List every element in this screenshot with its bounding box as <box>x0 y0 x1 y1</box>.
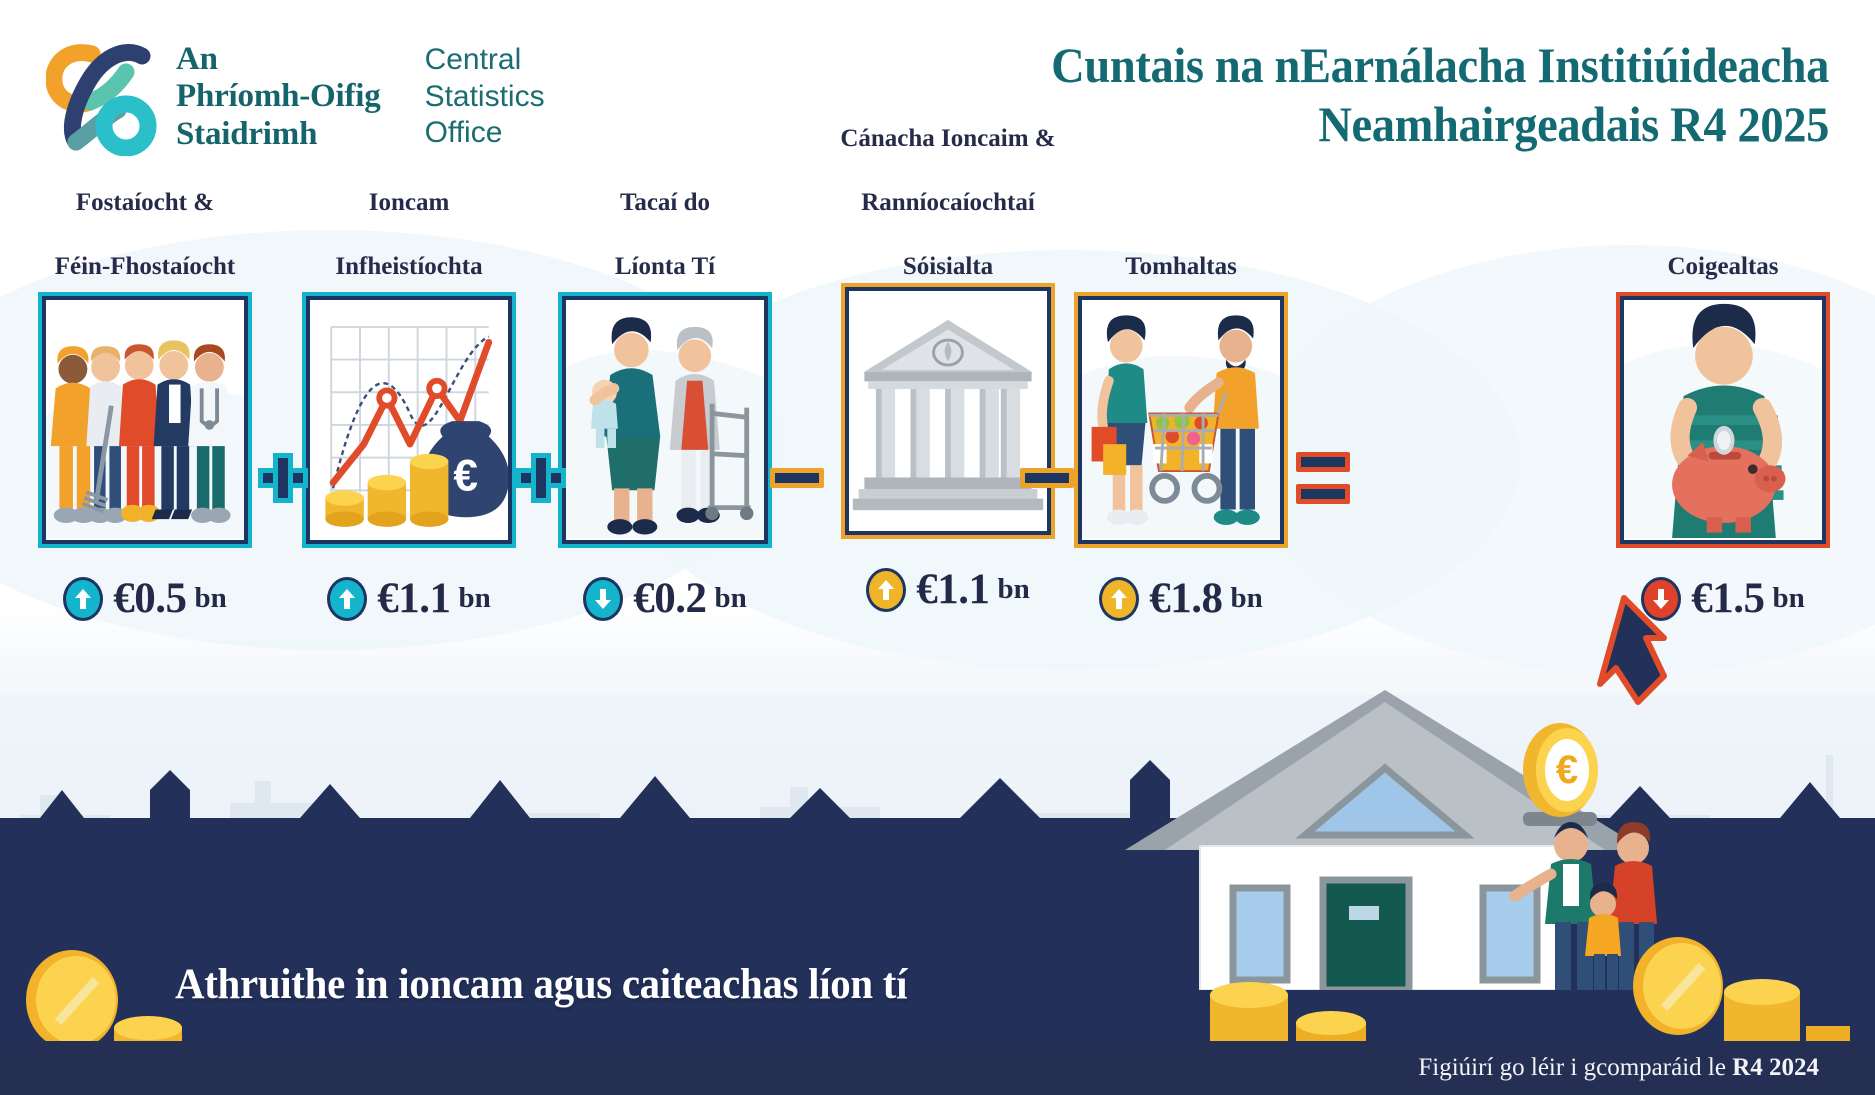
logo-ga-line-2: Phríomh-Oifig <box>176 78 381 115</box>
shopping-trolley-couple-illustration <box>1082 300 1280 538</box>
big-down-arrow-icon <box>1560 590 1690 720</box>
flow-item-label: Tacaí do Líonta Tí <box>556 195 774 283</box>
label-line-1: Cánacha Ioncaim & <box>820 123 1076 155</box>
flow-item-value: €1.1 bn <box>820 565 1076 614</box>
arrow-up-icon <box>1099 577 1139 621</box>
banner-headline: Athruithe in ioncam agus caiteachas líon… <box>175 960 907 1009</box>
label-line-1: Tomhaltas <box>1072 251 1290 283</box>
equals-top-bar <box>1296 452 1350 472</box>
minus-bar <box>1020 468 1074 488</box>
logo-en-line-1: Central <box>425 42 545 79</box>
value-amount: €1.1 <box>916 565 989 614</box>
workers-group-illustration <box>46 300 244 538</box>
logo-name-irish: An Phríomh-Oifig Staidrimh <box>176 41 381 153</box>
logo-ga-line-3: Staidrimh <box>176 116 381 153</box>
flow-item-value: €0.2 bn <box>556 574 774 623</box>
family-carer-illustration <box>566 300 764 538</box>
label-line-2: Infheistíochta <box>300 251 518 283</box>
flow-item-image-panel <box>845 287 1051 535</box>
footer-note-period: R4 2024 <box>1732 1054 1819 1081</box>
footer-note: Figiúirí go léir i gcomparáid le R4 2024 <box>1418 1054 1819 1082</box>
svg-text:€: € <box>453 451 478 500</box>
flow-item-label: Cánacha Ioncaim & Ranníocaíochtaí Sóisia… <box>820 195 1076 283</box>
flow-item-savings: Coigealtas <box>1614 195 1832 623</box>
value-amount: €0.2 <box>633 574 706 623</box>
flow-item-employment: Fostaíocht & Féin-Fhostaíocht <box>36 195 254 623</box>
value-unit: bn <box>1772 582 1804 615</box>
flow-item-investment-income: Ioncam Infheistíochta <box>300 195 518 623</box>
piggy-bank-saver-illustration <box>1624 300 1822 538</box>
logo-ga-line-1: An <box>176 41 381 78</box>
flow-item-value: €1.8 bn <box>1072 574 1290 623</box>
value-amount: €1.5 <box>1691 574 1764 623</box>
footer-note-plain: Figiúirí go léir i gcomparáid le <box>1418 1054 1732 1081</box>
flow-item-label: Fostaíocht & Féin-Fhostaíocht <box>36 195 254 283</box>
equals-bottom-bar <box>1296 484 1350 504</box>
label-line-2: Ranníocaíochtaí <box>820 187 1076 219</box>
flow-item-taxes-social-contributions: Cánacha Ioncaim & Ranníocaíochtaí Sóisia… <box>820 195 1076 614</box>
arrow-down-icon <box>583 577 623 621</box>
flow-item-image-panel <box>1078 296 1284 544</box>
operator-minus <box>1020 468 1074 488</box>
arrow-up-icon <box>866 568 906 612</box>
label-line-2: Líonta Tí <box>556 251 774 283</box>
cso-swirl-logo-icon <box>46 38 158 156</box>
operator-equals <box>1296 452 1350 504</box>
flow-item-image-panel <box>562 296 768 544</box>
flow-item-value: €1.1 bn <box>300 574 518 623</box>
flow-item-household-supports: Tacaí do Líonta Tí <box>556 195 774 623</box>
cso-logo: An Phríomh-Oifig Staidrimh Central Stati… <box>46 38 545 156</box>
arrow-up-icon <box>327 577 367 621</box>
label-line-1: Tacaí do <box>556 187 774 219</box>
label-line-1: Ioncam <box>300 187 518 219</box>
value-unit: bn <box>458 582 490 615</box>
operator-plus <box>516 453 566 503</box>
minus-bar <box>770 468 824 488</box>
label-line-3: Sóisialta <box>820 251 1076 283</box>
footer-bar: Figiúirí go léir i gcomparáid le R4 2024 <box>0 1041 1875 1095</box>
value-amount: €1.8 <box>1149 574 1222 623</box>
flow-item-image-panel <box>1620 296 1826 544</box>
value-unit: bn <box>997 573 1029 606</box>
label-line-1: Fostaíocht & <box>36 187 254 219</box>
label-line-1: Coigealtas <box>1614 251 1832 283</box>
operator-plus <box>258 453 308 503</box>
flow-item-label: Coigealtas <box>1614 195 1832 283</box>
flow-item-label: Tomhaltas <box>1072 195 1290 283</box>
arrow-up-icon <box>63 577 103 621</box>
flow-item-label: Ioncam Infheistíochta <box>300 195 518 283</box>
svg-text:€: € <box>1556 748 1578 792</box>
plus-vertical-bar <box>531 453 551 503</box>
value-amount: €0.5 <box>113 574 186 623</box>
flow-item-image-panel <box>42 296 248 544</box>
flow-item-value: €0.5 bn <box>36 574 254 623</box>
value-unit: bn <box>1230 582 1262 615</box>
logo-name-english: Central Statistics Office <box>425 42 545 152</box>
value-amount: €1.1 <box>377 574 450 623</box>
investment-chart-coins-illustration: € <box>310 300 508 538</box>
plus-vertical-bar <box>273 453 293 503</box>
infographic-canvas: An Phríomh-Oifig Staidrimh Central Stati… <box>0 0 1875 1095</box>
flow-item-image-panel: € <box>306 296 512 544</box>
label-line-2: Féin-Fhostaíocht <box>36 251 254 283</box>
flow-item-consumption: Tomhaltas <box>1072 195 1290 623</box>
title-line-1: Cuntais na nEarnálacha Institiúideacha <box>778 36 1829 95</box>
value-unit: bn <box>714 582 746 615</box>
operator-minus <box>770 468 824 488</box>
logo-en-line-3: Office <box>425 115 545 152</box>
value-unit: bn <box>194 582 226 615</box>
logo-en-line-2: Statistics <box>425 79 545 116</box>
government-building-illustration <box>849 291 1047 529</box>
